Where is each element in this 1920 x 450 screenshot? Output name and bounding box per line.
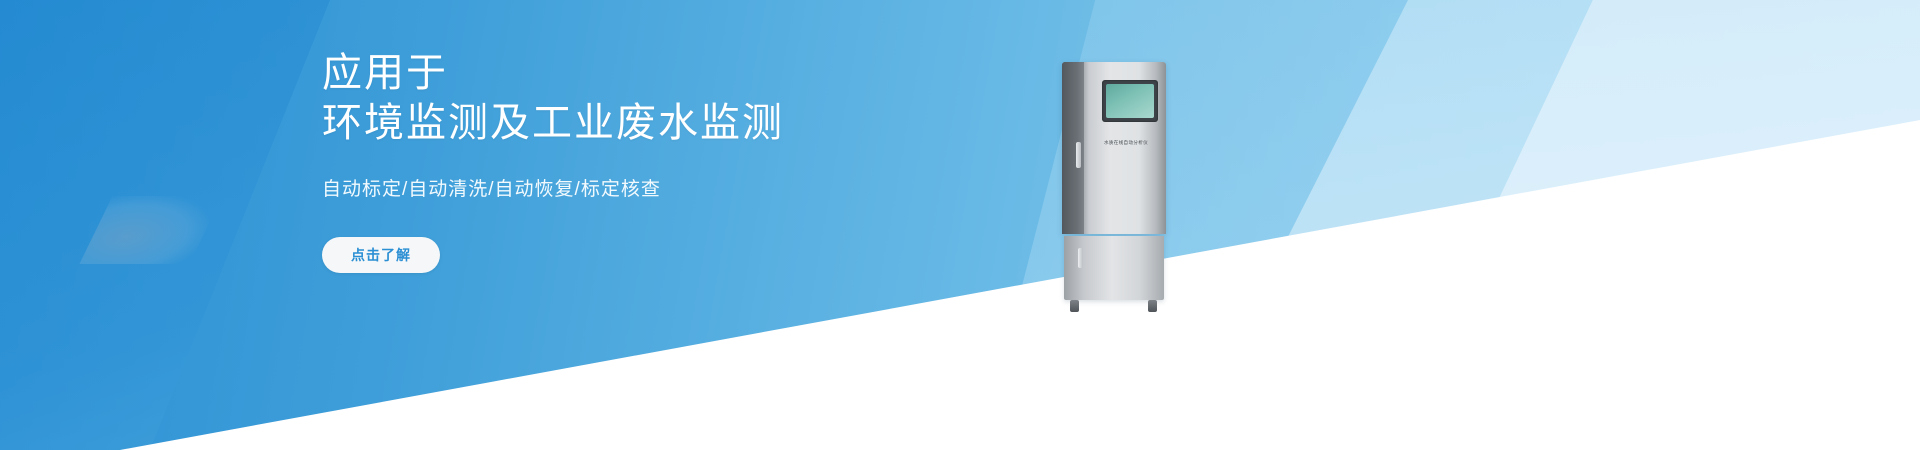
device-screen-bezel	[1102, 80, 1158, 122]
device-caster-left	[1070, 300, 1079, 312]
headline-line-1: 应用于	[322, 51, 448, 95]
learn-more-button[interactable]: 点击了解	[322, 237, 440, 273]
device-lower-handle	[1078, 248, 1083, 268]
water-quality-analyzer-device: 水质在线自动分析仪	[1062, 62, 1174, 314]
device-caster-right	[1148, 300, 1157, 312]
hero-banner: 水质在线自动分析仪 应用于 环境监测及工业废水监测 自动标定/自动清洗/自动恢复…	[0, 0, 1920, 450]
device-label-text: 水质在线自动分析仪	[1088, 140, 1164, 146]
banner-content: 应用于 环境监测及工业废水监测 自动标定/自动清洗/自动恢复/标定核查 点击了解	[322, 48, 1022, 273]
page-title: 应用于 环境监测及工业废水监测	[322, 48, 1022, 148]
device-display-screen	[1106, 84, 1154, 118]
banner-subtitle: 自动标定/自动清洗/自动恢复/标定核查	[322, 174, 1022, 201]
headline-line-2: 环境监测及工业废水监测	[322, 98, 1022, 148]
device-upper-handle	[1076, 142, 1081, 168]
device-upper-cabinet: 水质在线自动分析仪	[1062, 62, 1166, 234]
device-lower-cabinet	[1064, 236, 1164, 300]
